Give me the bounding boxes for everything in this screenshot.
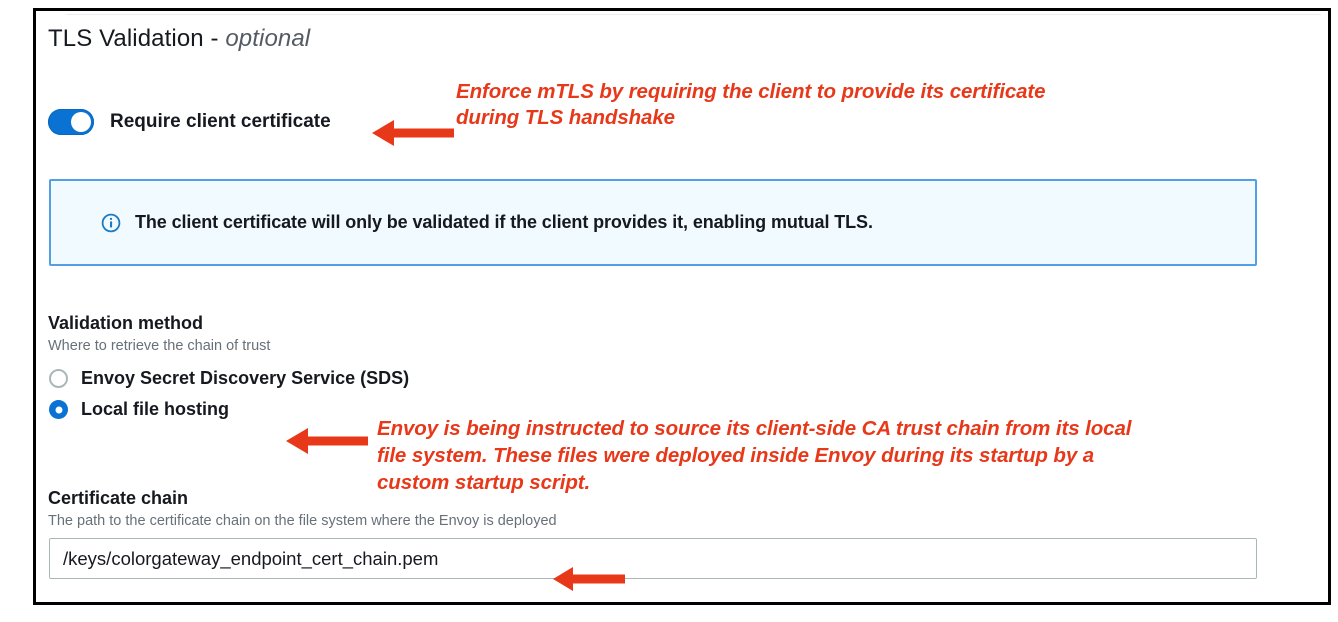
- page-title-separator: -: [204, 25, 226, 52]
- arrow-head-icon: [372, 120, 394, 146]
- arrow-to-local-file-hosting: [286, 428, 368, 454]
- annotation-note-2: Envoy is being instructed to source its …: [377, 415, 1131, 496]
- page-title-main: TLS Validation: [48, 25, 204, 52]
- toggle-knob: [71, 112, 91, 132]
- arrow-to-certificate-chain-input: [553, 567, 625, 591]
- validation-method-description: Where to retrieve the chain of trust: [48, 338, 270, 354]
- validation-method-label: Validation method: [48, 313, 203, 334]
- page-title: TLS Validation - optional: [48, 25, 310, 53]
- radio-option-envoy-sds[interactable]: Envoy Secret Discovery Service (SDS): [49, 368, 409, 389]
- arrow-head-icon: [553, 567, 573, 591]
- radio-label-local-file-hosting: Local file hosting: [81, 399, 229, 420]
- certificate-chain-input[interactable]: [49, 538, 1257, 579]
- certificate-chain-label: Certificate chain: [48, 488, 188, 509]
- radio-icon-checked[interactable]: [49, 400, 68, 419]
- arrow-shaft: [392, 129, 454, 138]
- page-title-optional: optional: [225, 25, 310, 52]
- radio-icon-unchecked[interactable]: [49, 369, 68, 388]
- arrow-shaft: [573, 575, 625, 584]
- require-client-certificate-label: Require client certificate: [110, 111, 331, 133]
- info-circle-icon: [101, 213, 121, 233]
- arrow-shaft: [306, 437, 368, 446]
- certificate-chain-description: The path to the certificate chain on the…: [48, 513, 557, 529]
- info-alert-text: The client certificate will only be vali…: [135, 212, 873, 233]
- require-client-certificate-row[interactable]: Require client certificate: [48, 109, 331, 135]
- arrow-to-require-client-certificate: [372, 120, 454, 146]
- screenshot-root: TLS Validation - optional Require client…: [0, 0, 1338, 622]
- form-panel: TLS Validation - optional Require client…: [36, 11, 1328, 602]
- annotation-note-1: Enforce mTLS by requiring the client to …: [456, 79, 1045, 131]
- radio-label-envoy-sds: Envoy Secret Discovery Service (SDS): [81, 368, 409, 389]
- arrow-head-icon: [286, 428, 308, 454]
- radio-option-local-file-hosting[interactable]: Local file hosting: [49, 399, 229, 420]
- panel-divider: [66, 14, 1321, 15]
- require-client-certificate-toggle[interactable]: [48, 109, 94, 135]
- info-alert: The client certificate will only be vali…: [49, 179, 1257, 266]
